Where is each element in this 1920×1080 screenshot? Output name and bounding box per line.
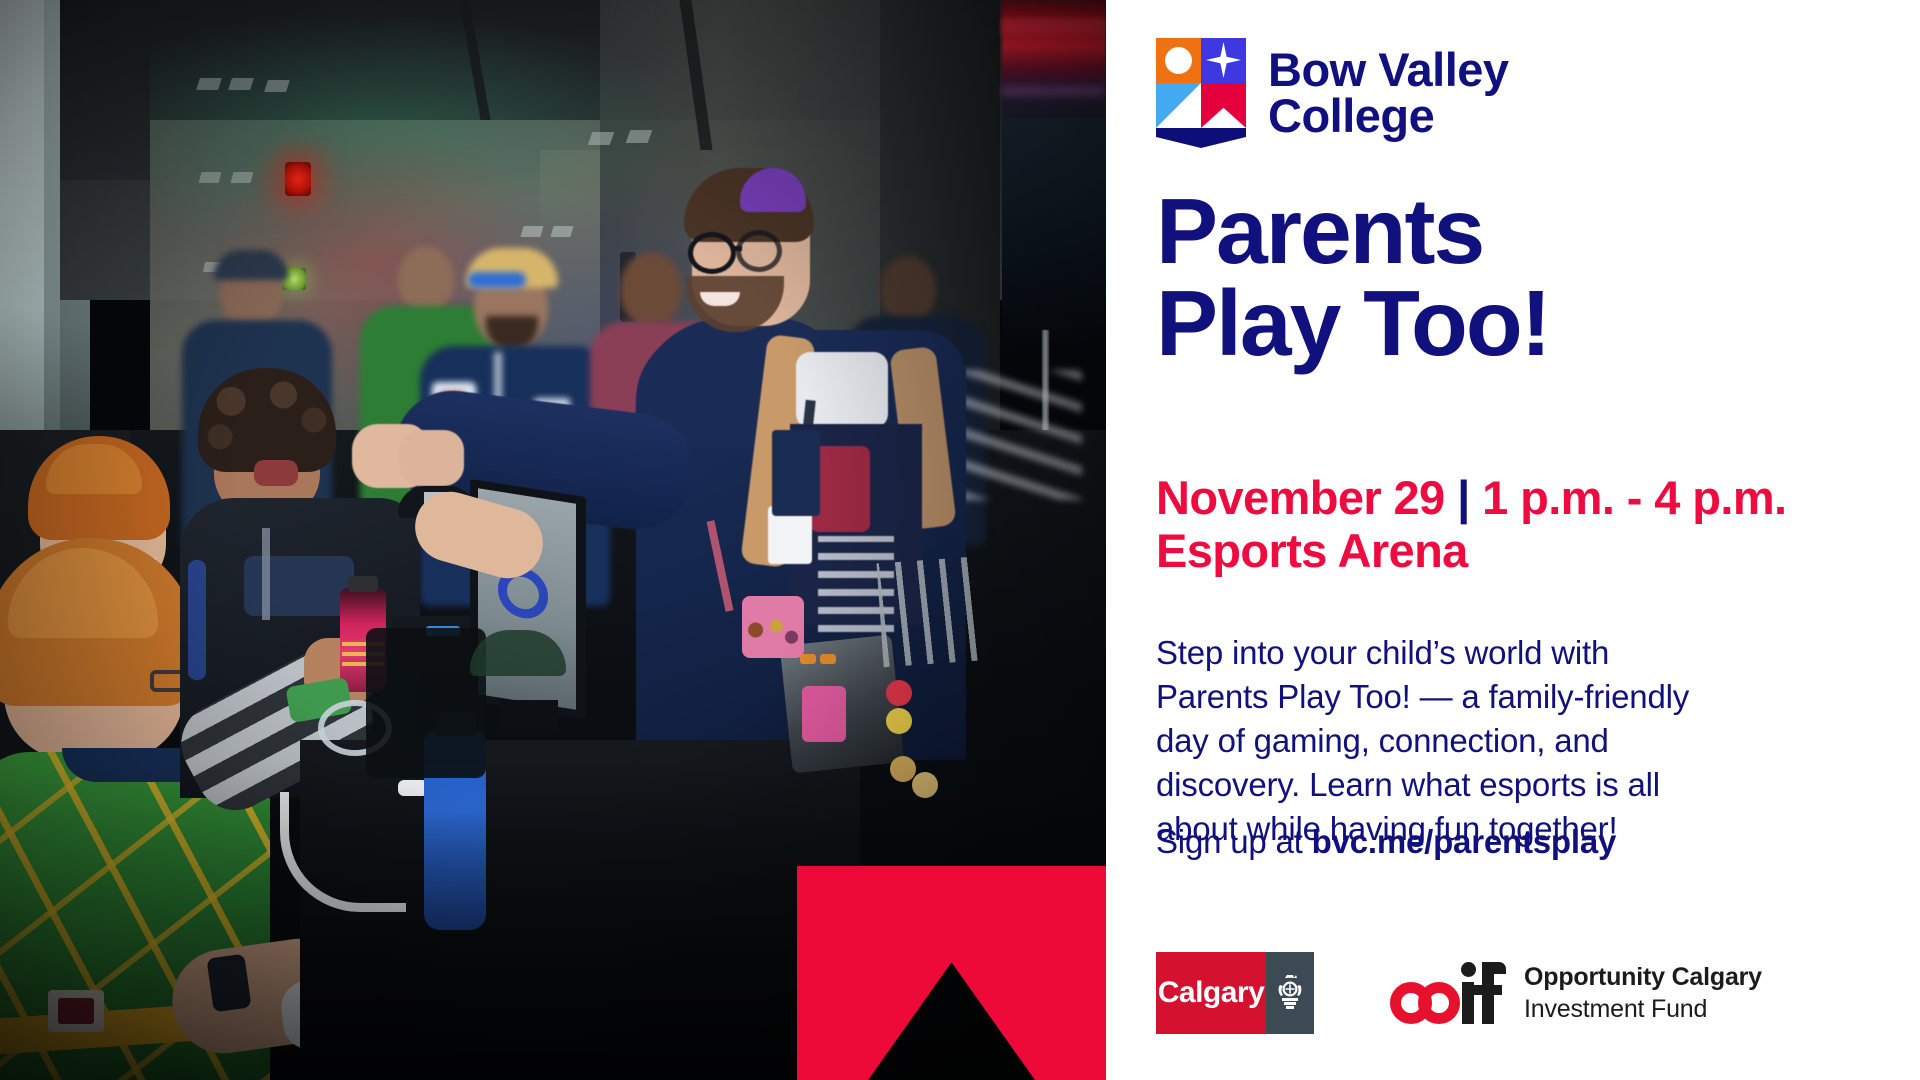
event-venue: Esports Arena: [1156, 525, 1787, 578]
headline-line-2: Play Too!: [1156, 277, 1550, 369]
signup-prefix: Sign up at: [1156, 823, 1312, 860]
calgary-wordmark: Calgary: [1158, 976, 1265, 1010]
ocif-letter-f-hook: [1482, 962, 1506, 974]
poster-canvas: Bow Valley College Parents Play Too! Nov…: [0, 0, 1920, 1080]
ocif-letter-i-dot: [1461, 962, 1476, 977]
ocif-ring-right: [1418, 982, 1460, 1024]
event-description: Step into your child’s world with Parent…: [1156, 631, 1806, 850]
ocif-letter-f-bar: [1474, 985, 1502, 995]
bvc-shield-icon: [1156, 38, 1248, 148]
shield-circle-icon: [1165, 47, 1192, 74]
event-date-time-row: November 29 | 1 p.m. - 4 p.m.: [1156, 472, 1787, 525]
page-title: Parents Play Too!: [1156, 185, 1550, 369]
logo-wordmark-line2: College: [1268, 93, 1509, 139]
headline-line-1: Parents: [1156, 185, 1550, 277]
logo-wordmark-line1: Bow Valley: [1268, 47, 1509, 93]
signup-call-to-action: Sign up at bvc.me/parentsplay: [1156, 823, 1616, 861]
logo-wordmark: Bow Valley College: [1268, 47, 1509, 139]
ocif-wordmark-line1: Opportunity Calgary: [1524, 961, 1762, 994]
event-time: 1 p.m. - 4 p.m.: [1482, 471, 1786, 524]
description-line-4: discovery. Learn what esports is all: [1156, 763, 1806, 807]
description-line-3: day of gaming, connection, and: [1156, 719, 1806, 763]
ocif-infinity-icon: [1390, 960, 1508, 1026]
event-photo: [0, 0, 1106, 1080]
description-line-1: Step into your child’s world with: [1156, 631, 1806, 675]
calgary-coat-of-arms-icon: [1273, 972, 1307, 1014]
event-details: November 29 | 1 p.m. - 4 p.m. Esports Ar…: [1156, 472, 1787, 577]
ocif-logo: Opportunity Calgary Investment Fund: [1390, 960, 1762, 1026]
ocif-wordmark-line2: Investment Fund: [1524, 993, 1762, 1026]
ocif-wordmark: Opportunity Calgary Investment Fund: [1524, 961, 1762, 1026]
calgary-wordmark-block: Calgary: [1156, 952, 1266, 1034]
bow-valley-college-logo: Bow Valley College: [1156, 38, 1509, 148]
signup-url[interactable]: bvc.me/parentsplay: [1312, 823, 1617, 860]
city-of-calgary-logo: Calgary: [1156, 952, 1314, 1034]
event-separator: |: [1457, 471, 1470, 524]
ocif-letter-i: [1462, 982, 1474, 1024]
sponsor-logos: Calgary: [1156, 952, 1762, 1034]
event-date: November 29: [1156, 471, 1445, 524]
calgary-crest-block: [1266, 952, 1314, 1034]
shield-base-band: [1156, 128, 1246, 148]
content-panel: Bow Valley College Parents Play Too! Nov…: [1106, 0, 1920, 1080]
description-line-2: Parents Play Too! — a family-friendly: [1156, 675, 1806, 719]
